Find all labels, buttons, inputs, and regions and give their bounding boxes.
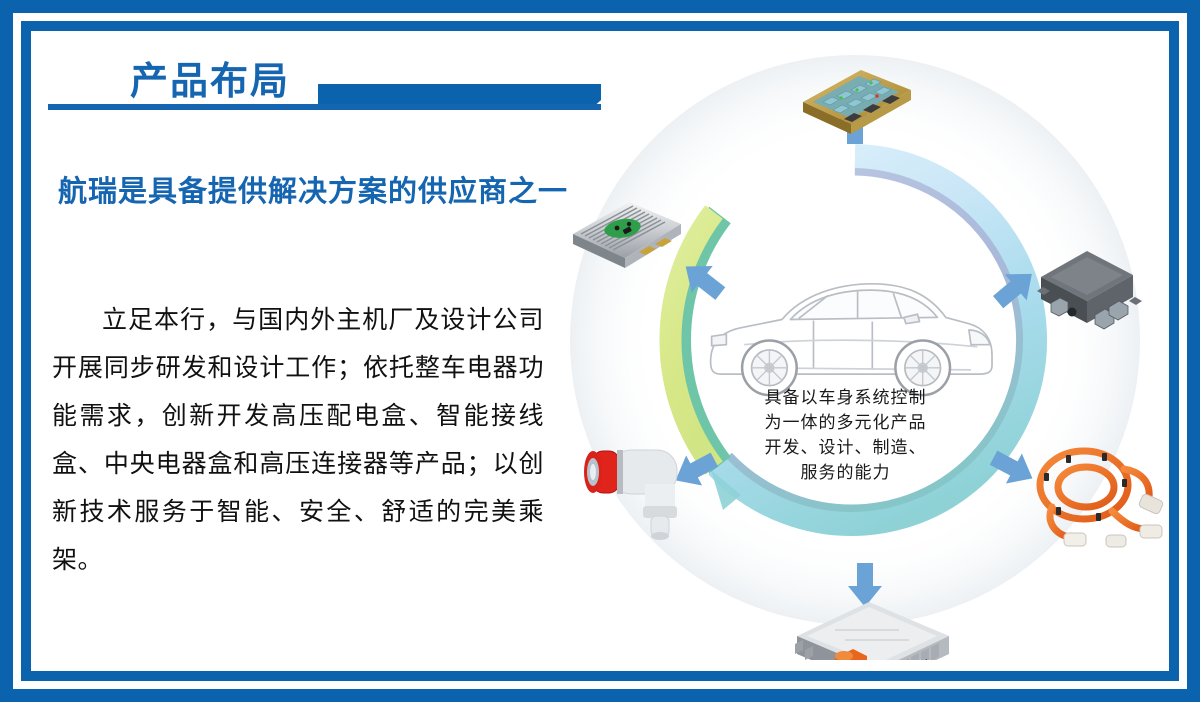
center-caption-line-3: 开发、设计、制造、 (723, 435, 968, 460)
center-caption-line-1: 具备以车身系统控制 (723, 385, 968, 410)
title-block: 产品布局 (48, 52, 608, 120)
section-subtitle: 航瑞是具备提供解决方案的供应商之一 (58, 168, 568, 210)
body-paragraph: 立足本行，与国内外主机厂及设计公司开展同步研发和设计工作；依托整车电器功能需求，… (52, 297, 544, 585)
center-caption-line-4: 服务的能力 (723, 460, 968, 485)
slide-canvas: 产品布局 航瑞是具备提供解决方案的供应商之一 立足本行，与国内外主机厂及设计公司… (0, 0, 1200, 702)
diagram-svg (545, 40, 1185, 660)
center-caption-line-2: 为一体的多元化产品 (723, 410, 968, 435)
page-title: 产品布局 (130, 50, 290, 105)
product-layout-diagram: 具备以车身系统控制 为一体的多元化产品 开发、设计、制造、 服务的能力 (545, 40, 1185, 660)
center-caption: 具备以车身系统控制 为一体的多元化产品 开发、设计、制造、 服务的能力 (723, 385, 968, 485)
